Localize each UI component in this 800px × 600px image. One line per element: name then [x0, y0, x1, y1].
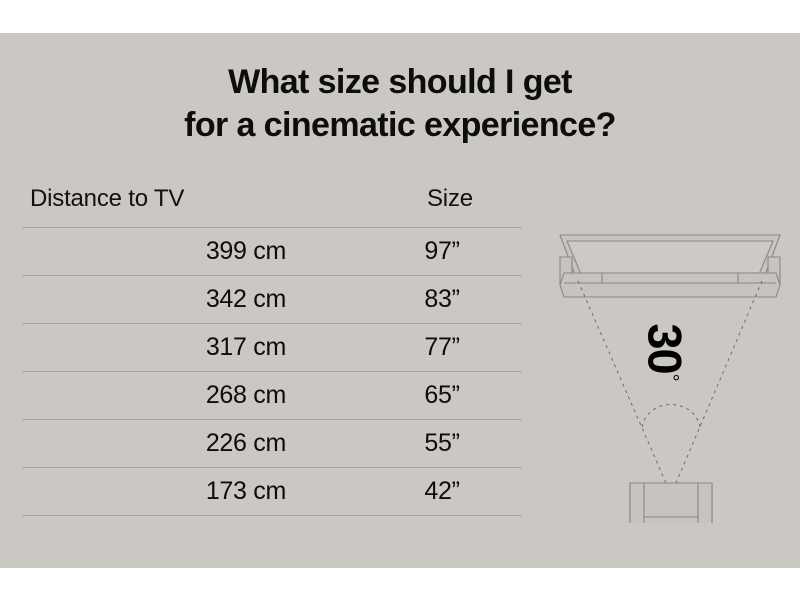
angle-value: 30 [638, 323, 691, 373]
column-header-size: Size [427, 185, 473, 213]
table-row: 173 cm 42” [22, 467, 522, 516]
page-title: What size should I get for a cinematic e… [0, 61, 800, 147]
cell-size: 97” [382, 237, 502, 266]
degree-symbol: ° [660, 374, 682, 381]
size-table: Distance to TV Size 399 cm 97” 342 cm 83… [22, 185, 522, 516]
cell-size: 83” [382, 285, 502, 314]
cell-distance: 342 cm [22, 285, 286, 314]
cell-distance: 268 cm [22, 381, 286, 410]
title-line-1: What size should I get [0, 61, 800, 104]
infographic-panel: What size should I get for a cinematic e… [0, 33, 800, 568]
table-row: 399 cm 97” [22, 227, 522, 275]
cell-size: 65” [382, 381, 502, 410]
tv-icon [560, 235, 780, 297]
cell-distance: 226 cm [22, 429, 286, 458]
table-row: 268 cm 65” [22, 371, 522, 419]
cell-distance: 173 cm [22, 477, 286, 506]
cell-size: 42” [382, 477, 502, 506]
cell-distance: 399 cm [22, 237, 286, 266]
cell-size: 77” [382, 333, 502, 362]
table-header-row: Distance to TV Size [22, 185, 522, 227]
angle-arc [642, 405, 700, 428]
cell-size: 55” [382, 429, 502, 458]
cell-distance: 317 cm [22, 333, 286, 362]
viewing-angle-label: 30° [636, 317, 706, 387]
table-row: 342 cm 83” [22, 275, 522, 323]
column-header-distance: Distance to TV [30, 185, 184, 213]
sofa-icon [630, 483, 712, 523]
table-body: 399 cm 97” 342 cm 83” 317 cm 77” 268 cm … [22, 227, 522, 516]
title-line-2: for a cinematic experience? [0, 104, 800, 147]
table-row: 317 cm 77” [22, 323, 522, 371]
table-row: 226 cm 55” [22, 419, 522, 467]
